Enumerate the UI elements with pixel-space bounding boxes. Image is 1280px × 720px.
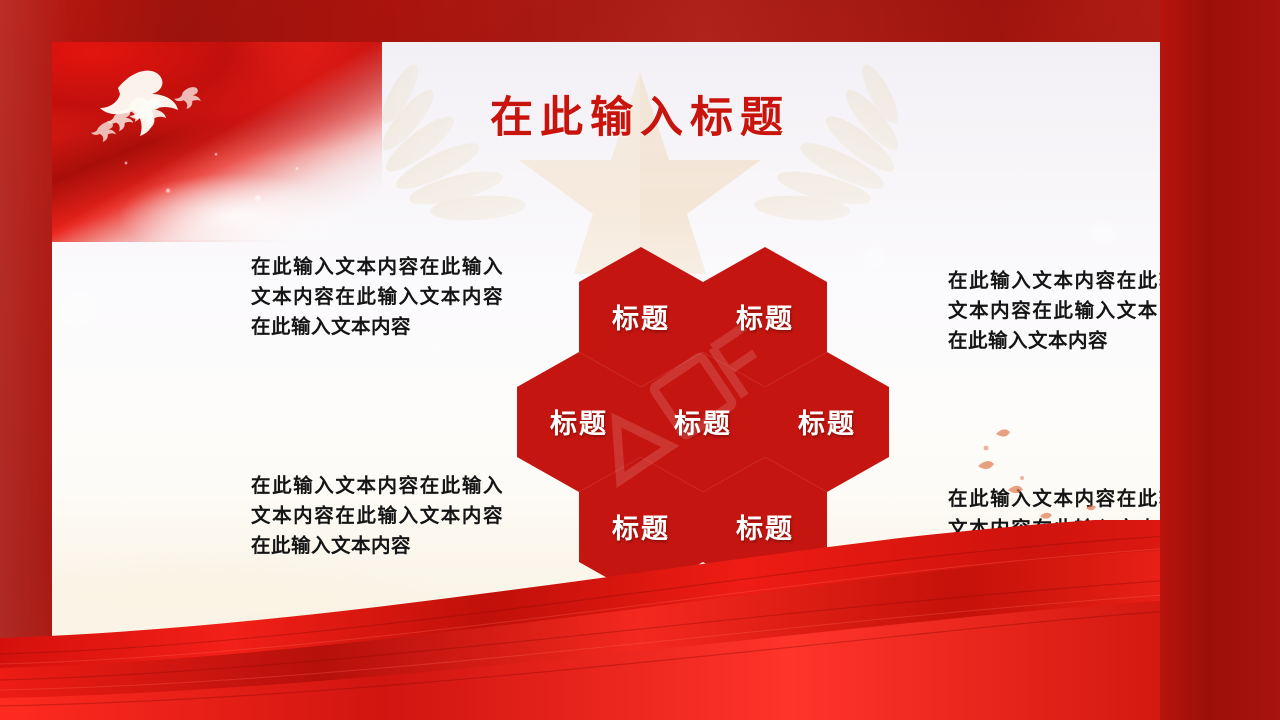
flag-spray-texture: [72, 130, 372, 240]
bokeh-dot: [58, 292, 98, 326]
text-block-top-right[interactable]: 在此输入文本内容在此输入文本内容在此输入文本内容在此输入文本内容: [948, 267, 1200, 357]
hexagon-label: 标题: [736, 507, 794, 546]
hexagon-cluster: 标题 标题 标题 标题 标题 标题 标题: [517, 247, 885, 559]
page-title: 在此输入标题: [52, 94, 1228, 145]
hexagon-label: 标题: [612, 297, 670, 336]
star-wheat-emblem-icon: [360, 42, 920, 274]
hexagon-label: 标题: [550, 402, 608, 441]
bokeh-dot: [70, 192, 96, 218]
hexagon-label: 标题: [798, 402, 856, 441]
hexagon-label: 标题: [674, 402, 732, 441]
hexagon-label: 标题: [612, 507, 670, 546]
slide-canvas: 在此输入标题 在此输入文本内容在此输入文本内容在此输入文本内容在此输入文本内容 …: [52, 42, 1228, 702]
petal-flecks-decoration: [936, 412, 1136, 582]
hexagon-label: 标题: [736, 297, 794, 336]
bokeh-dot: [1092, 224, 1114, 244]
presentation-slide-frame: 在此输入标题 在此输入文本内容在此输入文本内容在此输入文本内容在此输入文本内容 …: [0, 0, 1280, 720]
bokeh-dot: [892, 294, 903, 305]
text-block-top-left[interactable]: 在此输入文本内容在此输入文本内容在此输入文本内容在此输入文本内容: [251, 253, 503, 343]
bokeh-dot: [432, 342, 441, 351]
text-block-bottom-left[interactable]: 在此输入文本内容在此输入文本内容在此输入文本内容在此输入文本内容: [251, 472, 503, 562]
